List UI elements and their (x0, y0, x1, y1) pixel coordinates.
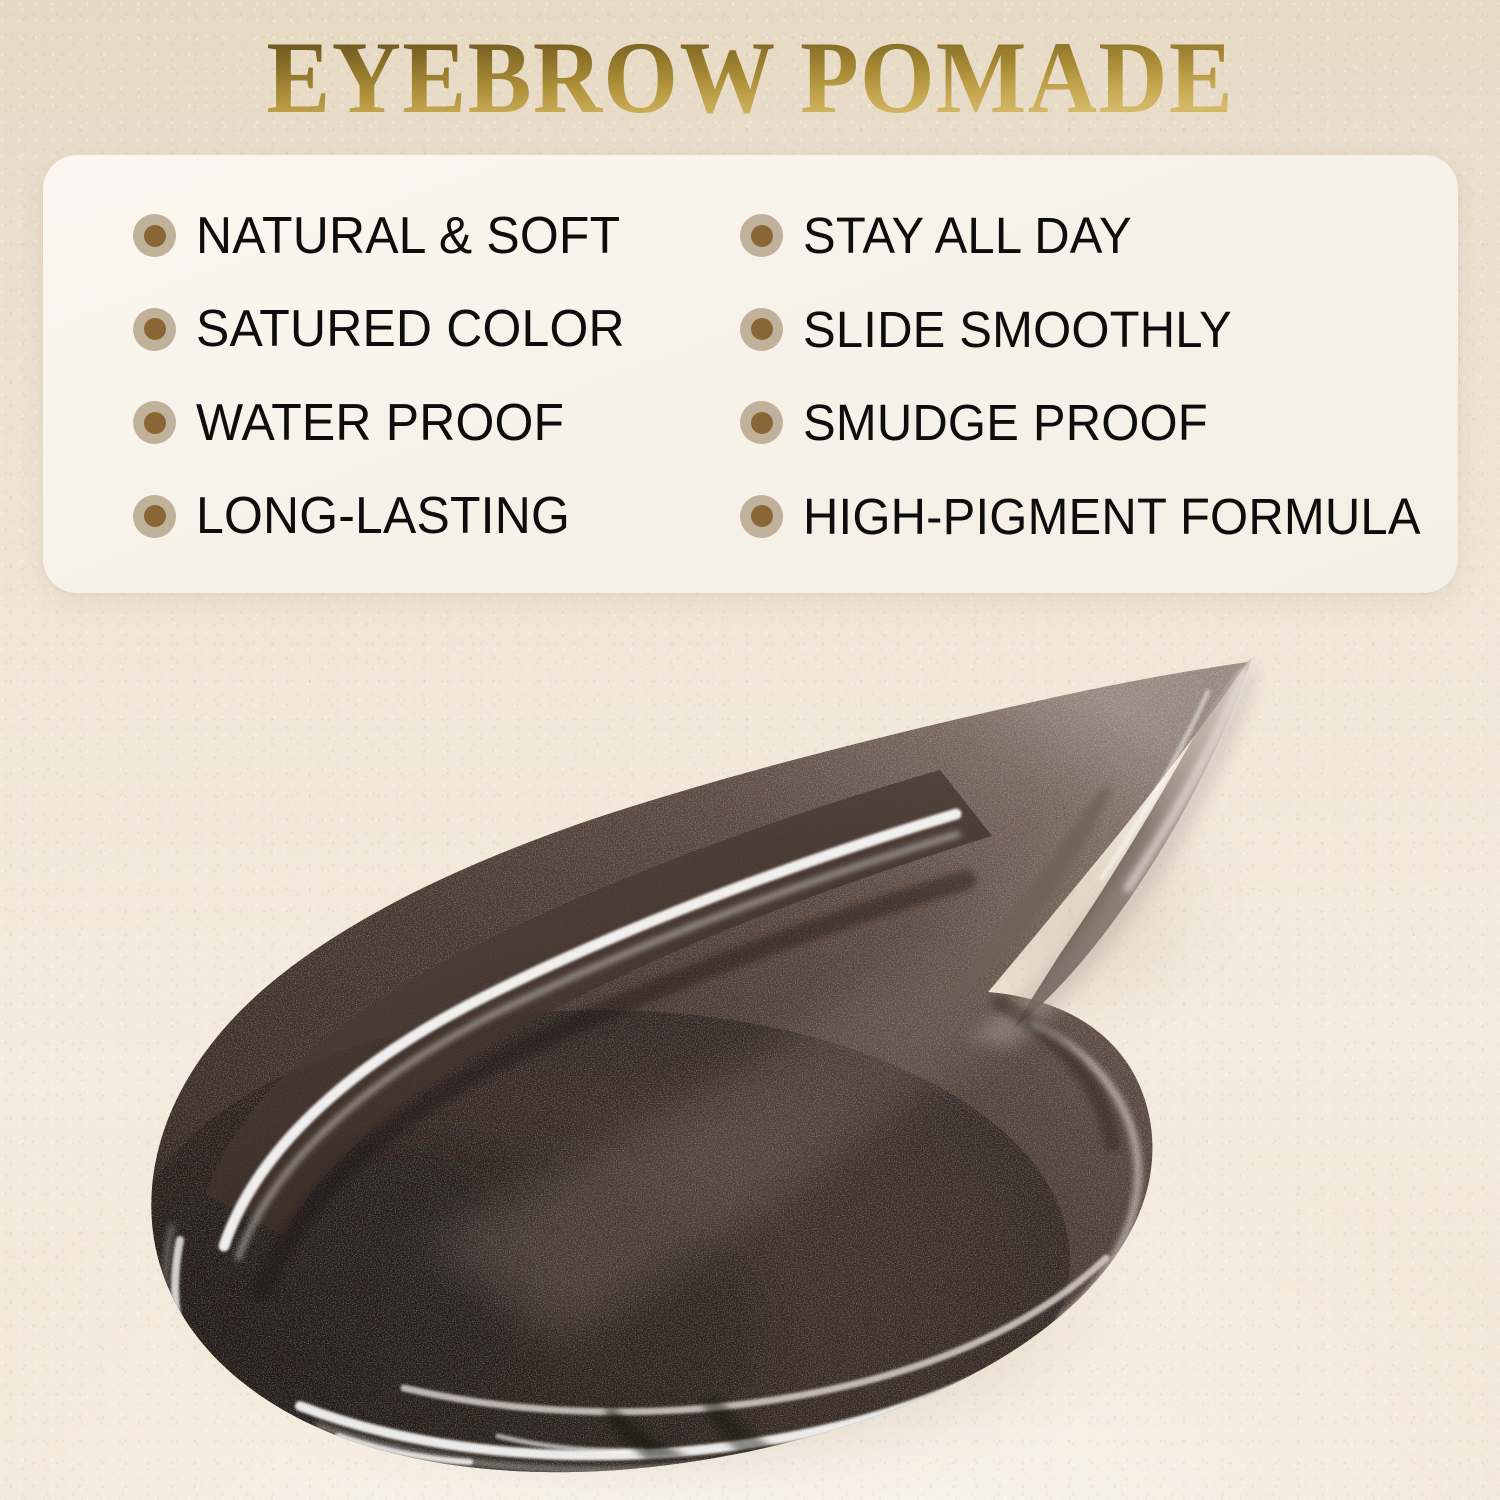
feature-item-smudge-proof: SMUDGE PROOF (740, 397, 1446, 448)
feature-item-natural-soft: NATURAL & SOFT (133, 210, 740, 262)
feature-label: SLIDE SMOOTHLY (803, 304, 1232, 355)
bullet-dot-icon (133, 495, 176, 538)
page-title-container: EYEBROW POMADE (0, 24, 1500, 133)
bullet-dot-icon (740, 308, 783, 351)
pomade-smear-swatch (0, 600, 1500, 1500)
feature-grid: NATURAL & SOFT STAY ALL DAY SATURED COLO… (43, 155, 1458, 593)
feature-item-satured-color: SATURED COLOR (133, 303, 740, 355)
bullet-dot-icon (133, 214, 176, 257)
feature-item-water-proof: WATER PROOF (133, 397, 740, 449)
feature-label: LONG-LASTING (196, 490, 570, 542)
bullet-dot-icon (740, 401, 783, 444)
feature-card: NATURAL & SOFT STAY ALL DAY SATURED COLO… (43, 155, 1458, 593)
feature-item-slide-smoothly: SLIDE SMOOTHLY (740, 304, 1446, 355)
bullet-dot-icon (133, 401, 176, 444)
feature-label: STAY ALL DAY (803, 210, 1132, 261)
feature-label: SMUDGE PROOF (803, 397, 1208, 448)
swatch-body (100, 630, 1320, 1500)
product-swatch-stage (0, 600, 1500, 1500)
feature-item-long-lasting: LONG-LASTING (133, 490, 740, 542)
feature-label: NATURAL & SOFT (196, 210, 620, 262)
feature-item-stay-all-day: STAY ALL DAY (740, 210, 1446, 261)
bullet-dot-icon (133, 308, 176, 351)
page-title: EYEBROW POMADE (266, 24, 1234, 133)
feature-item-high-pigment-formula: HIGH-PIGMENT FORMULA (740, 491, 1446, 542)
feature-label: WATER PROOF (196, 397, 564, 449)
bullet-dot-icon (740, 214, 783, 257)
feature-label: SATURED COLOR (196, 303, 625, 355)
feature-label: HIGH-PIGMENT FORMULA (803, 491, 1421, 542)
bullet-dot-icon (740, 495, 783, 538)
product-feature-page: EYEBROW POMADE NATURAL & SOFT STAY ALL D… (0, 0, 1500, 1500)
